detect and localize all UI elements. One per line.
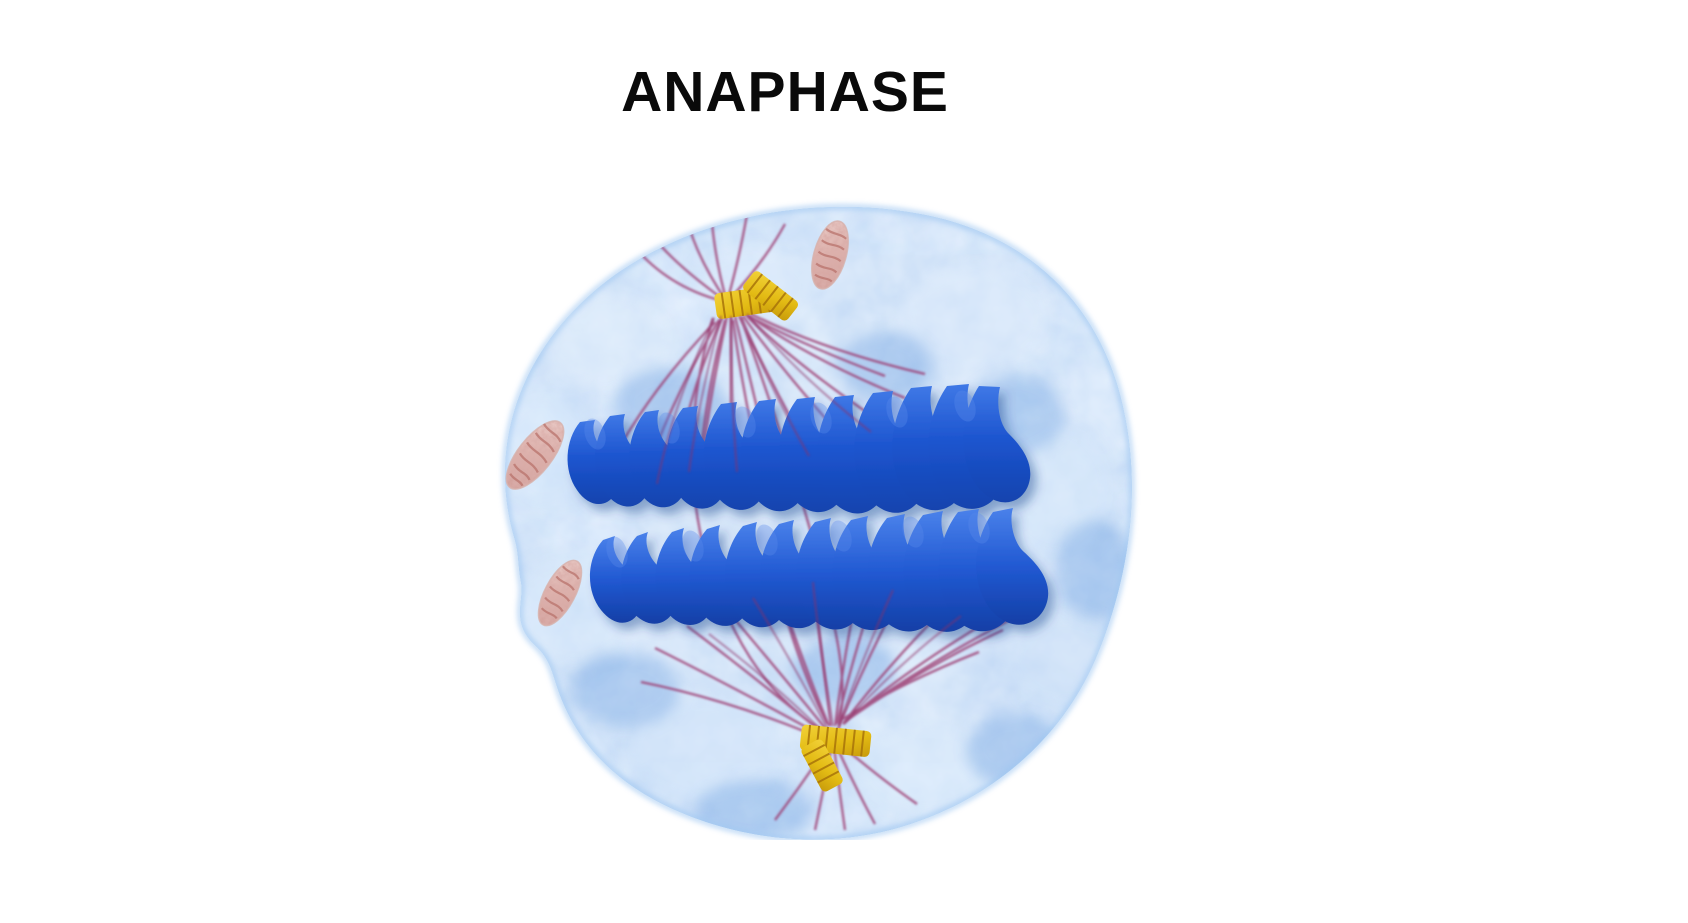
anaphase-cell-diagram: cell chromosomes spindle fibers centroso… bbox=[455, 190, 1145, 840]
page-title: ANAPHASE bbox=[0, 64, 1570, 121]
cell-body bbox=[455, 190, 1145, 840]
cell-illustration-svg bbox=[455, 190, 1145, 840]
illustration-canvas: ANAPHASE bbox=[0, 0, 1688, 923]
